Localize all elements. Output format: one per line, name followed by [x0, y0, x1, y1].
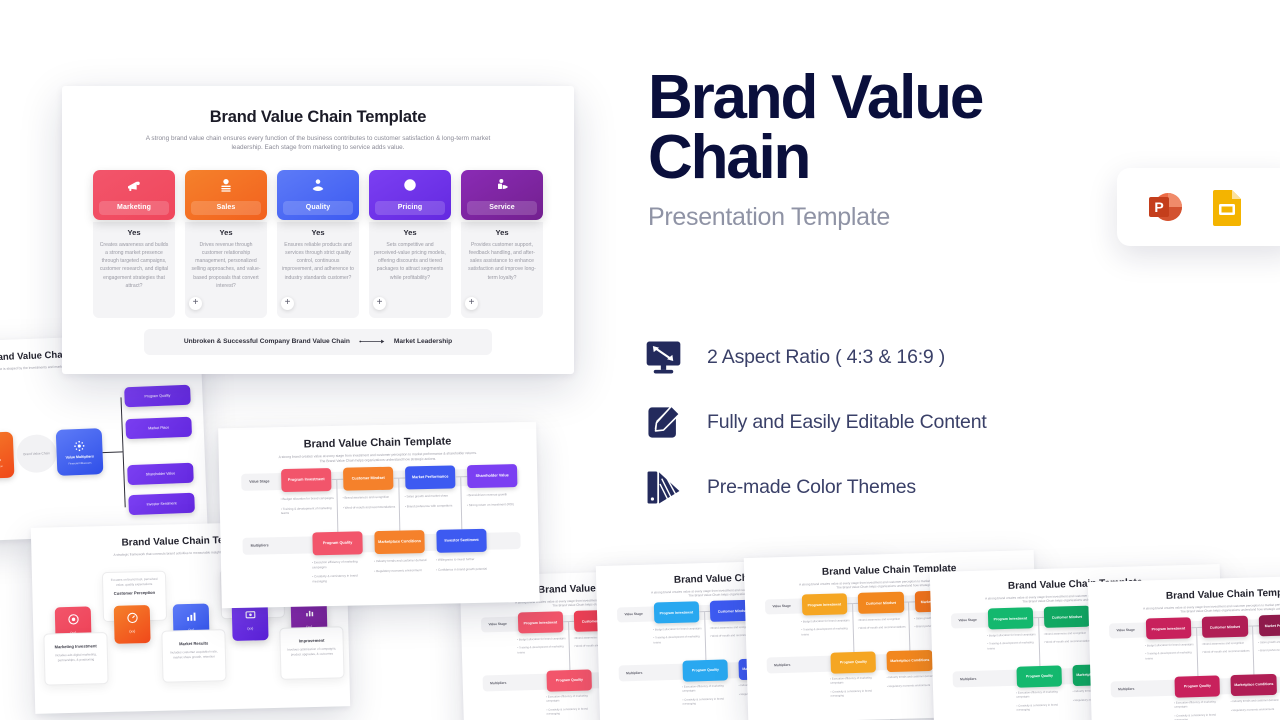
matrix-stage-bullet-3-1: Strong return on investment (ROI): [469, 502, 514, 507]
feature-item-aspect-ratio: 2 Aspect Ratio ( 4:3 & 16:9 ): [644, 325, 1204, 390]
footer-right-label: Market Leadership: [394, 338, 452, 345]
matrix-row-label-multipliers: Multipliers: [626, 671, 642, 675]
matrix-stage-bullets-1: • Brand awareness and recognition• Word-…: [1044, 631, 1094, 645]
matrix-stage-bullet-1-0: Brand awareness and recognition: [859, 618, 900, 622]
tree-diagram: Value Stage Brand Value Creation Brand V…: [0, 376, 207, 537]
card-header-pricing[interactable]: $Pricing: [369, 170, 451, 220]
tree-node-right-2[interactable]: Market Place: [125, 417, 192, 440]
card-label-sales: Sales: [191, 201, 261, 215]
icon-panel-label-2: Customer Perception: [103, 590, 165, 597]
tree-node-right-4[interactable]: Investor Sentiment: [128, 493, 195, 516]
matrix-stage-bullet-0-1: Training & development of marketing team…: [653, 636, 699, 644]
matrix-stage-bullet-2-0: Sales growth and market share: [406, 494, 448, 499]
matrix-subtitle: A strong brand creates value at every st…: [278, 451, 478, 465]
tree-node-right-4-label: Investor Sentiment: [147, 501, 177, 506]
money-icon: [243, 608, 256, 621]
icon-panel-text-1: Includes ads digital marketing, partners…: [45, 648, 107, 663]
tree-node-right-2-label: Market Place: [148, 426, 169, 431]
feature-label-aspect-ratio: 2 Aspect Ratio ( 4:3 & 16:9 ): [707, 346, 945, 369]
matrix-multiplier-bullets-0: • Execution efficiency of marketing camp…: [682, 685, 732, 707]
icon-panel-text-5: Involves optimization of campaigns, prod…: [281, 642, 343, 657]
matrix-multiplier-bullet-0-1: Creativity & consistency in brand messag…: [1175, 713, 1216, 720]
main-slide[interactable]: Brand Value Chain Template A strong bran…: [62, 86, 574, 374]
matrix-multiplier-label-1: Marketplace Conditions: [890, 658, 929, 663]
matrix-multiplier-bullets-0: • Execution efficiency of marketing camp…: [312, 559, 366, 583]
matrix-stage-bullet-0-1: Training & development of marketing team…: [517, 646, 563, 654]
value-chain-card-service[interactable]: ServiceYesProvides customer support, fee…: [461, 170, 543, 318]
matrix-stage-box-1[interactable]: Customer Mindset: [858, 592, 904, 614]
matrix-stage-bullets-3: • Brand-driven revenue growth• Strong re…: [467, 492, 521, 507]
main-slide-card-row: MarketingYesCreates awareness and builds…: [62, 170, 574, 318]
matrix-multiplier-box-1[interactable]: Marketplace Conditions: [374, 530, 424, 554]
matrix-stage-bullets-1: • Brand awareness and recognition• Word-…: [343, 495, 397, 510]
matrix-stage-bullet-0-1: Training & development of marketing team…: [987, 642, 1033, 650]
matrix-stage-label-1: Customer Mindset: [1210, 624, 1240, 629]
matrix-stage-box-0[interactable]: Program Investment: [653, 602, 699, 624]
value-chain-card-quality[interactable]: QualityYesEnsures reliable products and …: [277, 170, 359, 318]
value-chain-card-pricing[interactable]: $PricingYesSets competitive and perceive…: [369, 170, 451, 318]
matrix-stage-label-2: Market Performance: [1265, 623, 1280, 628]
matrix-multiplier-bullets-1: • Industry trends and customer demand• R…: [374, 558, 428, 573]
main-slide-title: Brand Value Chain Template: [62, 108, 574, 127]
target-icon: [66, 613, 79, 626]
matrix-stage-bullets-2: • Sales growth and market share• Brand p…: [1258, 640, 1280, 654]
matrix-stage-box-0[interactable]: Program Investment: [987, 608, 1033, 630]
matrix-row-label-multipliers: Multipliers: [490, 681, 506, 685]
screenshot-canvas: Brand Value Chain Template A brand value…: [0, 0, 1280, 720]
card-label-marketing: Marketing: [99, 201, 169, 215]
tree-node-right-3[interactable]: Shareholder Value: [127, 463, 194, 486]
matrix-stage-label-0: Program Investment: [808, 602, 842, 607]
matrix-multiplier-bullet-0-0: Execution efficiency of marketing campai…: [1174, 701, 1216, 709]
matrix-multiplier-bullet-0-1: Creativity & consistency in brand messag…: [312, 573, 357, 582]
matrix-stage-label-3: Shareholder Value: [476, 473, 509, 478]
matrix-multiplier-bullets-0: • Execution efficiency of marketing camp…: [1174, 701, 1224, 720]
tree-node-right-1-label: Program Quality: [144, 394, 170, 399]
matrix-row-label-stage: Value Stage: [1116, 628, 1134, 633]
matrix-row-label-stage: Value Stage: [249, 479, 269, 483]
card-label-service: Service: [467, 201, 537, 215]
card-status-quality: Yes: [282, 228, 354, 237]
matrix-stage-box-2[interactable]: Market Performance: [405, 465, 455, 489]
expand-plus-button-1[interactable]: +: [281, 297, 294, 310]
matrix-multiplier-bullets-0: • Execution efficiency of marketing camp…: [830, 677, 880, 699]
card-header-quality[interactable]: Quality: [277, 170, 359, 220]
hand-chart-icon: [302, 607, 315, 620]
card-status-pricing: Yes: [374, 228, 446, 237]
matrix-stage-label-1: Customer Mindset: [866, 600, 896, 605]
megaphone-icon: [126, 177, 142, 193]
svg-text:P: P: [1154, 199, 1163, 215]
matrix-multiplier-box-0[interactable]: Program Quality: [830, 651, 876, 673]
chart-up-icon: [184, 610, 197, 623]
matrix-stage-bullets-1: • Brand awareness and recognition• Word-…: [1202, 641, 1252, 655]
matrix-stage-label-0: Program Investment: [288, 477, 325, 483]
matrix-stage-box-0[interactable]: Program Investment: [281, 468, 331, 492]
matrix-row-label-stage: Value Stage: [772, 604, 790, 609]
feature-item-color-themes: Pre-made Color Themes: [644, 455, 1204, 520]
matrix-multiplier-bullets-1: • Industry trends and customer demand• R…: [1231, 699, 1280, 713]
matrix-multiplier-box-0[interactable]: Program Quality: [312, 531, 362, 555]
matrix-multiplier-bullet-0-0: Execution efficiency of marketing campai…: [1016, 691, 1058, 699]
matrix-title: Brand Value Chain Template: [218, 434, 536, 453]
matrix-stage-label-0: Program Investment: [994, 616, 1028, 621]
card-label-quality: Quality: [283, 201, 353, 215]
matrix-stage-bullets-0: • Budget allocation for brand campaigns•…: [653, 627, 703, 645]
matrix-multiplier-bullet-2-1: Confidence in brand growth potential: [438, 566, 487, 571]
main-slide-subtitle: A strong brand value chain ensures every…: [133, 134, 503, 153]
matrix-multiplier-bullet-0-1: Creativity & consistency in brand messag…: [547, 707, 588, 715]
matrix-subtitle: A strong brand creates value at every st…: [1142, 601, 1280, 615]
tree-hub-right-sublabel: Financial Influencers: [68, 461, 91, 465]
matrix-stage-bullet-1-1: Word-of-mouth and recommendations: [1204, 650, 1250, 654]
card-text-service: Provides customer support, feedback hand…: [466, 241, 538, 282]
matrix-stage-box-2[interactable]: Market Performance: [1258, 614, 1280, 636]
tree-hub-left-sublabel: Brand Value Creation: [0, 464, 3, 468]
matrix-multiplier-bullet-0-0: Execution efficiency of marketing campai…: [830, 677, 872, 685]
tree-center-bubble: Brand Value Chain: [16, 434, 57, 474]
matrix-stage-label-0: Program Investment: [1152, 626, 1186, 631]
arrow-right-icon: [359, 338, 385, 345]
matrix-row-label-stage: Value Stage: [958, 618, 976, 623]
color-fan-swatch-icon: [644, 468, 683, 507]
matrix-multiplier-bullet-0-0: Execution efficiency of marketing campai…: [546, 695, 588, 703]
expand-plus-button-3[interactable]: +: [465, 297, 478, 310]
footer-left-label: Unbroken & Successful Company Brand Valu…: [184, 338, 350, 345]
matrix-stage-box-0[interactable]: Program Investment: [801, 594, 847, 616]
matrix-stage-label-1: Customer Mindset: [1052, 614, 1082, 619]
hero-subtitle: Presentation Template: [648, 203, 1118, 232]
hero-title-line2: Chain: [648, 123, 809, 192]
matrix-row-label-stage: Value Stage: [488, 622, 506, 627]
card-text-quality: Ensures reliable products and services t…: [282, 241, 354, 282]
card-header-marketing[interactable]: Marketing: [93, 170, 175, 220]
format-badge: P: [1117, 168, 1280, 246]
matrix-multiplier-label-1: Marketplace Conditions: [378, 539, 421, 545]
slide-thumbnail-matrix-magenta[interactable]: Brand Value Chain TemplateA strong brand…: [1088, 574, 1280, 720]
matrix-row-label-multipliers: Multipliers: [1118, 687, 1134, 691]
card-label-pricing: Pricing: [375, 201, 445, 215]
pencil-edit-icon: [644, 403, 683, 442]
matrix-multiplier-box-0[interactable]: Program Quality: [1016, 665, 1062, 687]
expand-plus-button-0[interactable]: +: [189, 297, 202, 310]
matrix-multiplier-bullets-0: • Execution efficiency of marketing camp…: [1016, 691, 1066, 713]
matrix-multiplier-box-2[interactable]: Investor Sentiment: [436, 529, 486, 553]
matrix-stage-label-2: Market Performance: [412, 475, 449, 480]
svg-text:$: $: [408, 181, 412, 190]
matrix-stage-bullet-2-1: Brand preference with competitors: [1260, 649, 1280, 653]
matrix-multiplier-label-0: Program Quality: [840, 660, 867, 665]
card-text-marketing: Creates awareness and builds a strong ma…: [98, 241, 170, 291]
matrix-stage-box-0[interactable]: Program Investment: [517, 612, 563, 634]
card-status-service: Yes: [466, 228, 538, 237]
icon-panel-lower-5: Improvement Involves optimization of cam…: [279, 626, 344, 680]
matrix-multiplier-label-1: Marketplace Conditions: [1234, 682, 1273, 687]
matrix-title: Brand Value Chain Template: [1088, 585, 1280, 604]
matrix-stage-bullet-0-0: Budget allocation for brand campaigns: [989, 633, 1036, 637]
feature-item-editable: Fully and Easily Editable Content: [644, 390, 1204, 455]
matrix-stage-bullet-0-0: Budget allocation for brand campaigns: [1147, 643, 1194, 647]
matrix-stage-bullet-1-1: Word-of-mouth and recommendations: [1046, 640, 1092, 644]
slide-thumbnail-matrix-main[interactable]: Brand Value Chain TemplateA strong brand…: [218, 422, 540, 609]
matrix-stage-label-0: Program Investment: [524, 620, 558, 625]
powerpoint-icon[interactable]: P: [1143, 185, 1187, 229]
main-slide-footer: Unbroken & Successful Company Brand Valu…: [144, 329, 492, 355]
matrix-stage-label-1: Customer Mindset: [352, 476, 385, 481]
matrix-stage-bullet-1-0: Brand awareness and recognition: [1203, 642, 1244, 646]
money-growth-icon: [218, 177, 234, 193]
tree-hub-left-label: Value Stage: [0, 458, 1, 463]
matrix-multiplier-label-0: Program Quality: [692, 668, 719, 673]
matrix-multiplier-label-0: Program Quality: [556, 678, 583, 683]
network-icon: [73, 439, 85, 451]
page-title: Brand Value Chain: [648, 68, 1118, 187]
matrix-row-label-multipliers: Multipliers: [960, 677, 976, 681]
matrix-stage-bullet-0-1: Training & development of marketing team…: [1145, 652, 1191, 660]
matrix-stage-bullet-1-1: Word-of-mouth and recommendations: [860, 626, 906, 630]
value-chain-card-marketing[interactable]: MarketingYesCreates awareness and builds…: [93, 170, 175, 318]
matrix-multiplier-bullet-1-0: Industry trends and customer demand: [376, 558, 427, 563]
matrix-stage-label-1: Customer Mindset: [718, 608, 748, 613]
matrix-multiplier-bullet-1-0: Industry trends and customer demand: [1232, 699, 1278, 703]
matrix-multiplier-bullet-0-0: Execution efficiency of marketing campai…: [312, 559, 358, 568]
matrix-stage-bullet-3-0: Brand-driven revenue growth: [468, 492, 507, 497]
feature-label-editable: Fully and Easily Editable Content: [707, 411, 987, 434]
matrix-stage-bullet-1-0: Brand awareness and recognition: [1045, 632, 1086, 636]
matrix-multiplier-bullet-0-1: Creativity & consistency in brand messag…: [831, 689, 872, 697]
matrix-stage-box-1[interactable]: Customer Mindset: [343, 467, 393, 491]
tree-hub-left[interactable]: Value Stage Brand Value Creation: [0, 432, 14, 480]
matrix-stage-bullet-1-1: Word-of-mouth and recommendations: [345, 504, 396, 509]
matrix-stage-bullet-0-0: Budget allocation for brand campaigns: [803, 619, 850, 623]
matrix-multiplier-label-0: Program Quality: [323, 541, 353, 546]
matrix-multiplier-box-0[interactable]: Program Quality: [682, 659, 728, 681]
matrix-stage-bullets-2: • Sales growth and market share• Brand p…: [405, 493, 459, 508]
monitor-aspect-ratio-icon: [644, 338, 683, 377]
icon-panel-lower-3: Market Results Includes customer acquisi…: [161, 629, 226, 683]
matrix-multiplier-bullet-1-1: Regulatory economic environment: [376, 568, 422, 573]
matrix-stage-box-3[interactable]: Shareholder Value: [467, 464, 517, 488]
matrix-multiplier-bullet-0-1: Creativity & consistency in brand messag…: [1017, 703, 1058, 711]
card-status-sales: Yes: [190, 228, 262, 237]
hand-badge-icon: [310, 177, 326, 193]
matrix-stage-bullets-0: • Budget allocation for brand campaigns•…: [281, 496, 335, 516]
matrix-stage-bullet-2-0: Sales growth and market share: [1260, 640, 1280, 644]
matrix-stage-bullets-1: • Brand awareness and recognition• Word-…: [858, 617, 908, 631]
matrix-stage-bullets-0: • Budget allocation for brand campaigns•…: [801, 619, 851, 637]
matrix-stage-bullet-0-1: Training & development of marketing team…: [281, 505, 332, 515]
matrix-multiplier-box-0[interactable]: Program Quality: [1174, 675, 1220, 697]
hero-text-block: Brand Value Chain Presentation Template: [648, 68, 1118, 232]
hero-title-line1: Brand Value: [648, 63, 982, 132]
gauge-icon: [125, 611, 138, 624]
matrix-multiplier-bullet-1-0: Industry trends and customer demand: [888, 675, 934, 679]
card-text-pricing: Sets competitive and perceived-value pri…: [374, 241, 446, 282]
matrix-multiplier-box-0[interactable]: Program Quality: [546, 669, 592, 691]
card-text-sales: Drives revenue through customer relation…: [190, 241, 262, 291]
matrix-stage-bullets-0: • Budget allocation for brand campaigns•…: [987, 633, 1037, 651]
hand-support-icon: [494, 177, 510, 193]
matrix-row-label-stage: Value Stage: [624, 612, 642, 617]
card-status-marketing: Yes: [98, 228, 170, 237]
icon-panel-text-3: Includes customer acquisition rate, mark…: [163, 645, 225, 660]
matrix-stage-bullets-0: • Budget allocation for brand campaigns•…: [1145, 643, 1195, 661]
expand-plus-button-2[interactable]: +: [373, 297, 386, 310]
matrix-stage-box-0[interactable]: Program Investment: [1145, 618, 1191, 640]
feature-list: 2 Aspect Ratio ( 4:3 & 16:9 ) Fully and …: [644, 325, 1204, 520]
matrix-multiplier-bullet-1-1: Regulatory economic environment: [1233, 708, 1275, 712]
card-header-service[interactable]: Service: [461, 170, 543, 220]
matrix-multiplier-bullets-0: • Execution efficiency of marketing camp…: [546, 695, 596, 717]
tree-hub-right-label: Value Multipliers: [65, 454, 93, 459]
card-body-marketing: YesCreates awareness and builds a strong…: [93, 222, 175, 318]
matrix-multiplier-box-1[interactable]: Marketplace Conditions: [1231, 674, 1277, 696]
value-chain-card-sales[interactable]: SalesYesDrives revenue through customer …: [185, 170, 267, 318]
dollar-coin-icon: $: [402, 177, 418, 193]
matrix-multiplier-bullets-1: • Industry trends and customer demand• R…: [887, 675, 937, 689]
matrix-stage-bullet-0-0: Budget allocation for brand campaigns: [282, 496, 333, 501]
matrix-stage-box-1[interactable]: Customer Mindset: [1044, 606, 1090, 628]
icon-card-2-value: (xx): [114, 629, 150, 634]
matrix-stage-bullet-1-0: Brand awareness and recognition: [344, 495, 389, 500]
matrix-multiplier-label-0: Program Quality: [1026, 674, 1053, 679]
icon-card-2[interactable]: (xx): [114, 605, 151, 644]
matrix-row-label-multipliers: Multipliers: [774, 663, 790, 667]
icon-card-4-value: (xx): [232, 626, 268, 631]
feature-label-color-themes: Pre-made Color Themes: [707, 476, 916, 499]
tree-connector: [103, 451, 123, 453]
matrix-stage-label-0: Program Investment: [660, 610, 694, 615]
matrix-row-label-multipliers: Multipliers: [251, 543, 269, 547]
matrix-multiplier-bullet-0-1: Creativity & consistency in brand messag…: [683, 697, 724, 705]
google-slides-icon[interactable]: [1205, 185, 1249, 229]
matrix-multiplier-bullets-2: • Willingness to invest further• Confide…: [436, 557, 490, 572]
matrix-stage-bullet-0-0: Budget allocation for brand campaigns: [519, 637, 566, 641]
matrix-multiplier-label-2: Investor Sentiment: [444, 538, 478, 543]
matrix-multiplier-bullet-0-0: Execution efficiency of marketing campai…: [682, 685, 724, 693]
matrix-stage-box-1[interactable]: Customer Mindset: [1202, 616, 1248, 638]
matrix-multiplier-box-1[interactable]: Marketplace Conditions: [887, 650, 933, 672]
matrix-stage-bullet-0-0: Budget allocation for brand campaigns: [655, 627, 702, 631]
icon-panel-lower-1: Marketing Investment Includes ads digita…: [43, 632, 108, 686]
matrix-stage-bullets-0: • Budget allocation for brand campaigns•…: [517, 637, 567, 655]
tree-node-right-3-label: Shareholder Value: [146, 471, 176, 476]
tree-node-right-1[interactable]: Program Quality: [124, 385, 191, 408]
matrix-stage-bullet-0-1: Training & development of marketing team…: [801, 628, 847, 636]
matrix-multiplier-bullet-1-1: Regulatory economic environment: [889, 684, 931, 688]
card-header-sales[interactable]: Sales: [185, 170, 267, 220]
icon-panel-text-2: Focuses on brand trust, perceived value,…: [103, 572, 165, 588]
tree-hub-right[interactable]: Value Multipliers Financial Influencers: [56, 428, 104, 476]
matrix-multiplier-label-0: Program Quality: [1184, 684, 1211, 689]
matrix-stage-bullet-2-1: Brand preference with competitors: [407, 503, 453, 508]
matrix-multiplier-bullet-2-0: Willingness to invest further: [438, 557, 475, 562]
